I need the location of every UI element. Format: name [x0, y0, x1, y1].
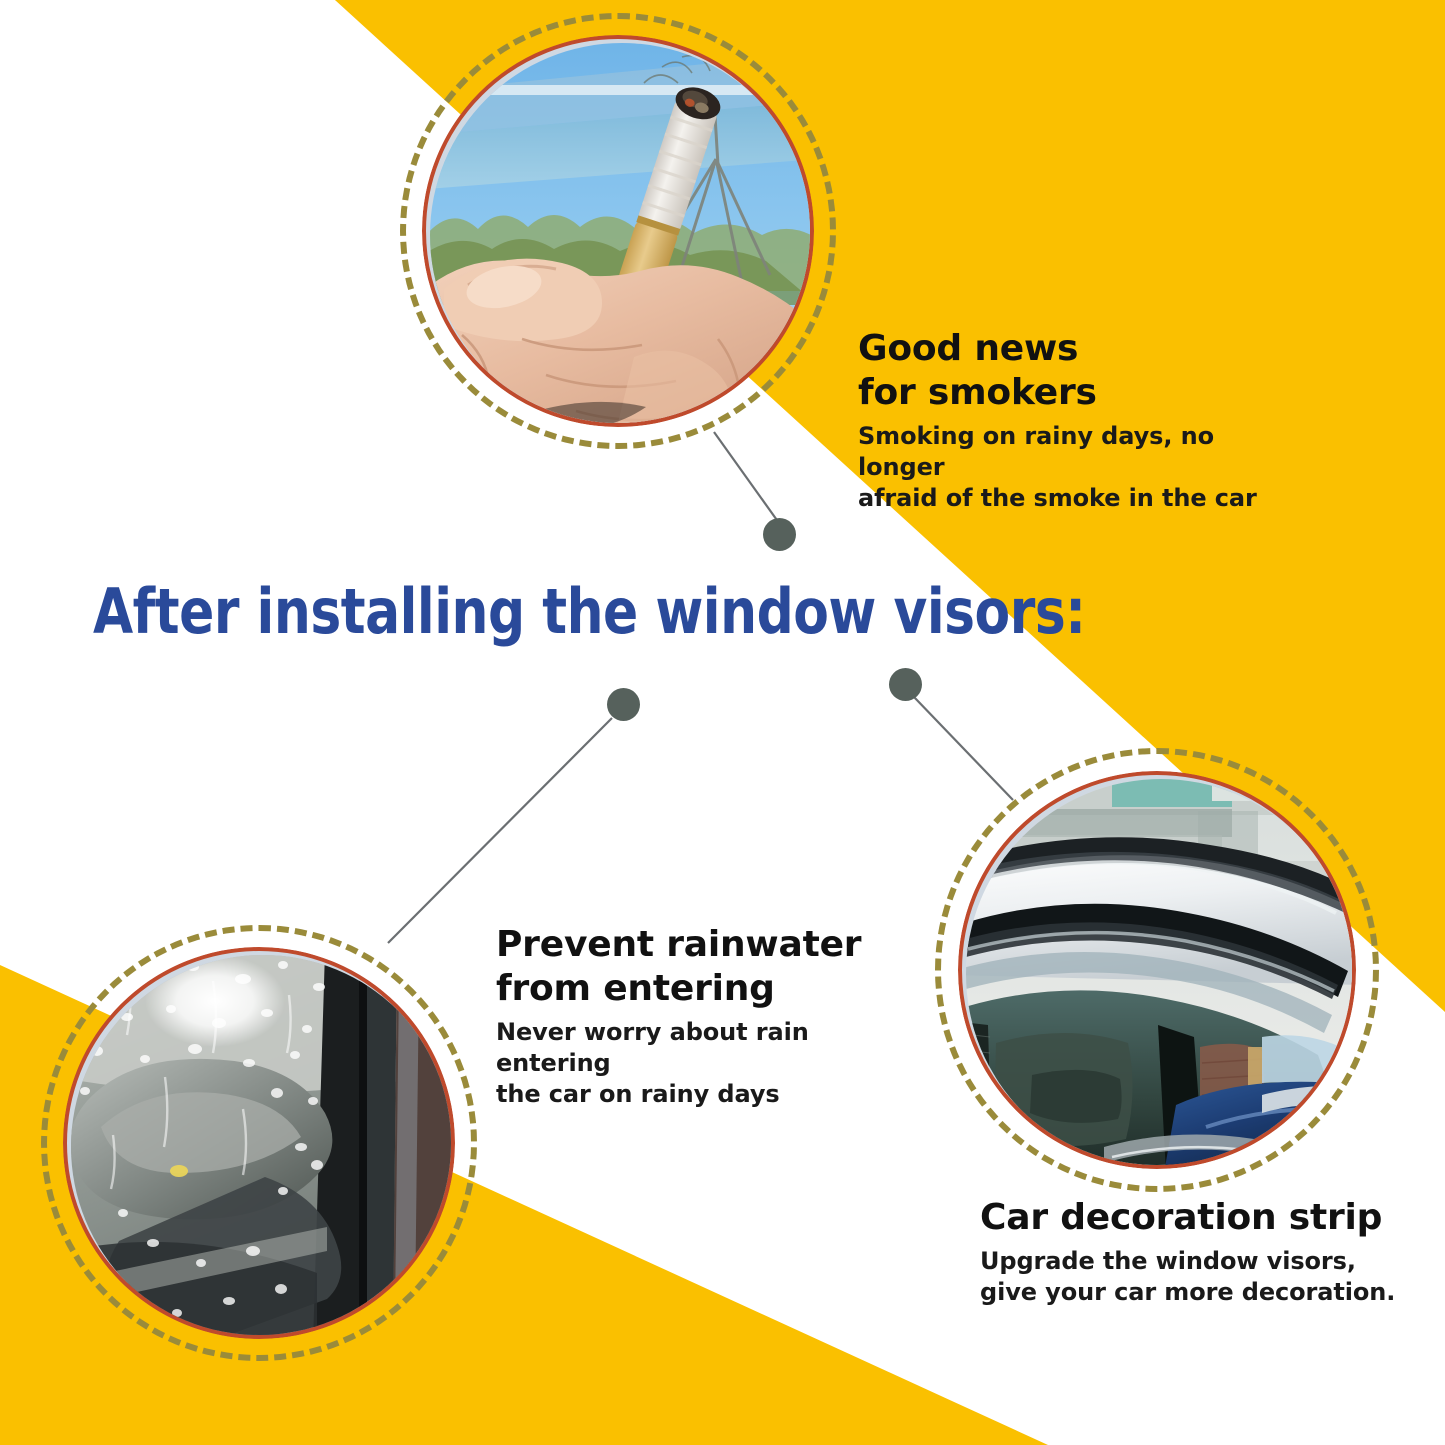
- feature-smokers-desc: Smoking on rainy days, no longer afraid …: [858, 421, 1288, 514]
- photo-rainwater-image: [67, 951, 455, 1339]
- photo-circle-smokers: [422, 35, 814, 427]
- connector-dot-smokers: [763, 518, 796, 551]
- connector-line-decoration: [914, 697, 1013, 800]
- photo-circle-decoration: [958, 771, 1356, 1169]
- feature-decoration-desc: Upgrade the window visors, give your car…: [980, 1246, 1420, 1308]
- photo-smokers-image: [426, 39, 814, 427]
- feature-decoration: Car decoration strip Upgrade the window …: [980, 1196, 1420, 1308]
- feature-rainwater-desc: Never worry about rain entering the car …: [496, 1017, 916, 1110]
- feature-smokers-title: Good news for smokers: [858, 327, 1288, 415]
- photo-smokers-frame: [422, 35, 814, 427]
- photo-decoration-frame: [958, 771, 1356, 1169]
- connector-line-rainwater: [388, 718, 612, 943]
- photo-circle-rainwater: [63, 947, 455, 1339]
- connector-dot-rainwater: [607, 688, 640, 721]
- photo-rainwater-frame: [63, 947, 455, 1339]
- connector-line-smokers: [714, 432, 779, 523]
- feature-smokers: Good news for smokers Smoking on rainy d…: [858, 327, 1288, 514]
- photo-decoration-image: [962, 775, 1356, 1169]
- infographic-canvas: Good news for smokers Smoking on rainy d…: [0, 0, 1445, 1445]
- feature-rainwater-title: Prevent rainwater from entering: [496, 923, 916, 1011]
- connector-dot-decoration: [889, 668, 922, 701]
- page-title: After installing the window visors:: [93, 575, 1086, 648]
- feature-rainwater: Prevent rainwater from entering Never wo…: [496, 923, 916, 1110]
- feature-decoration-title: Car decoration strip: [980, 1196, 1420, 1240]
